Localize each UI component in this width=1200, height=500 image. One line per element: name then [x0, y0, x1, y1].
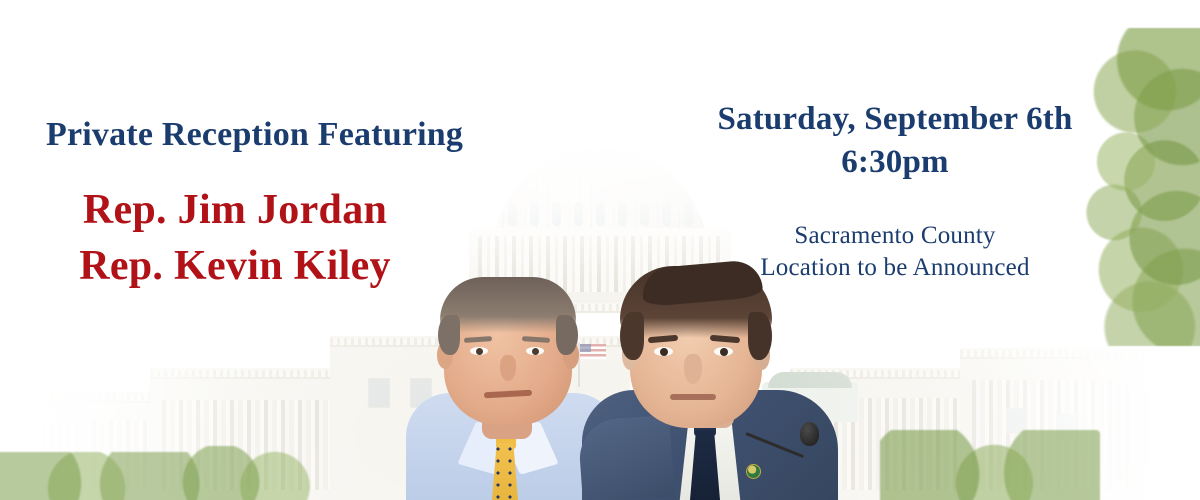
kiley-mouth: [670, 394, 716, 400]
featured-speaker-name-1: Rep. Jim Jordan: [0, 186, 470, 234]
event-county: Sacramento County: [700, 222, 1090, 250]
event-venue-status: Location to be Announced: [700, 254, 1090, 282]
event-banner: Private Reception Featuring Rep. Jim Jor…: [0, 0, 1200, 500]
jordan-pupil-right: [532, 348, 539, 355]
event-location-block: Sacramento County Location to be Announc…: [700, 222, 1090, 282]
event-time: 6:30pm: [700, 144, 1090, 181]
foreground-tree-left-mid: [176, 446, 326, 500]
congressional-lapel-pin-icon: [746, 464, 761, 479]
kiley-hair-side-left: [620, 312, 644, 360]
kiley-pupil-left: [660, 348, 668, 356]
featuring-headline: Private Reception Featuring: [46, 116, 463, 154]
jordan-hair-side-left: [438, 315, 460, 355]
featured-speaker-name-2: Rep. Kevin Kiley: [0, 242, 470, 290]
kiley-hair-side-right: [748, 312, 772, 360]
portrait-kevin-kiley: [586, 268, 838, 500]
microphone-icon: [800, 422, 819, 446]
jordan-hair-side-right: [556, 315, 578, 355]
event-date-block: Saturday, September 6th 6:30pm: [700, 101, 1090, 181]
foreground-trees-right: [880, 430, 1100, 500]
foreground-shrubs-left: [0, 452, 200, 500]
large-tree-right: [1058, 28, 1200, 346]
jordan-nose: [500, 355, 516, 381]
kiley-pupil-right: [720, 348, 728, 356]
kiley-nose: [684, 354, 702, 384]
event-date: Saturday, September 6th: [700, 101, 1090, 138]
jordan-pupil-left: [476, 348, 483, 355]
